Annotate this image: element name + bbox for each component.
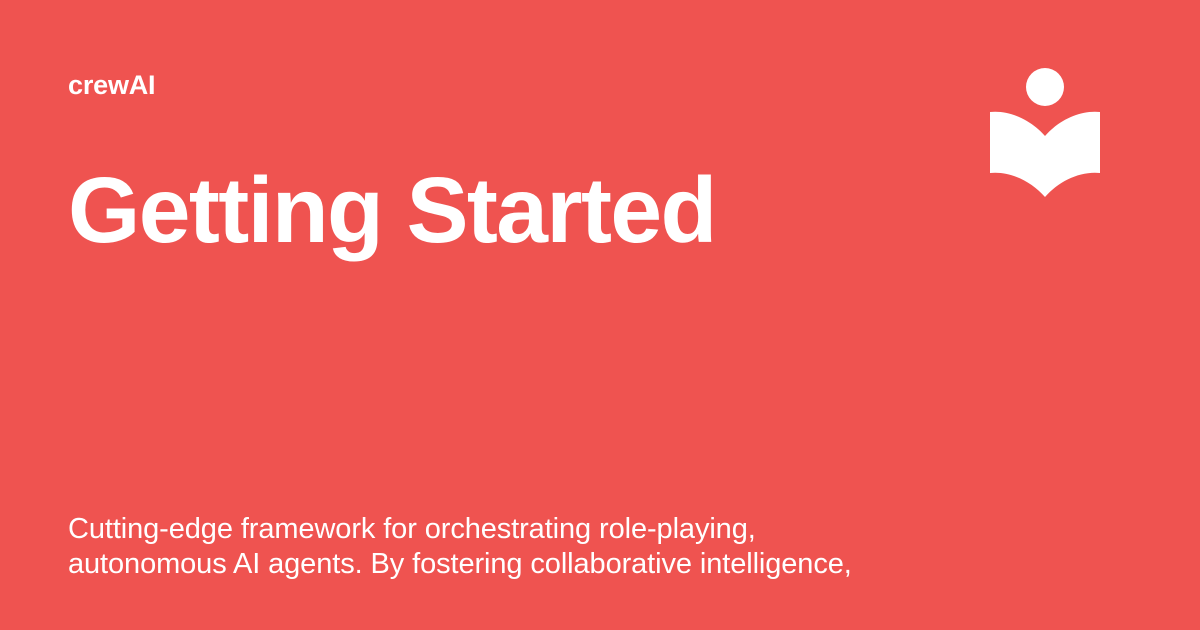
description-line-1: Cutting-edge framework for orchestrating…: [68, 512, 898, 547]
brand-name: crewAI: [68, 72, 155, 99]
description-line-2: autonomous AI agents. By fostering colla…: [68, 547, 898, 582]
page-description: Cutting-edge framework for orchestrating…: [68, 512, 898, 582]
brand-logo: crewAI: [68, 72, 155, 99]
page-title: Getting Started: [68, 160, 968, 260]
og-preview-card: crewAI Getting Started Cutting-edge fram…: [0, 0, 1200, 630]
open-book-reader-icon: [984, 60, 1106, 206]
